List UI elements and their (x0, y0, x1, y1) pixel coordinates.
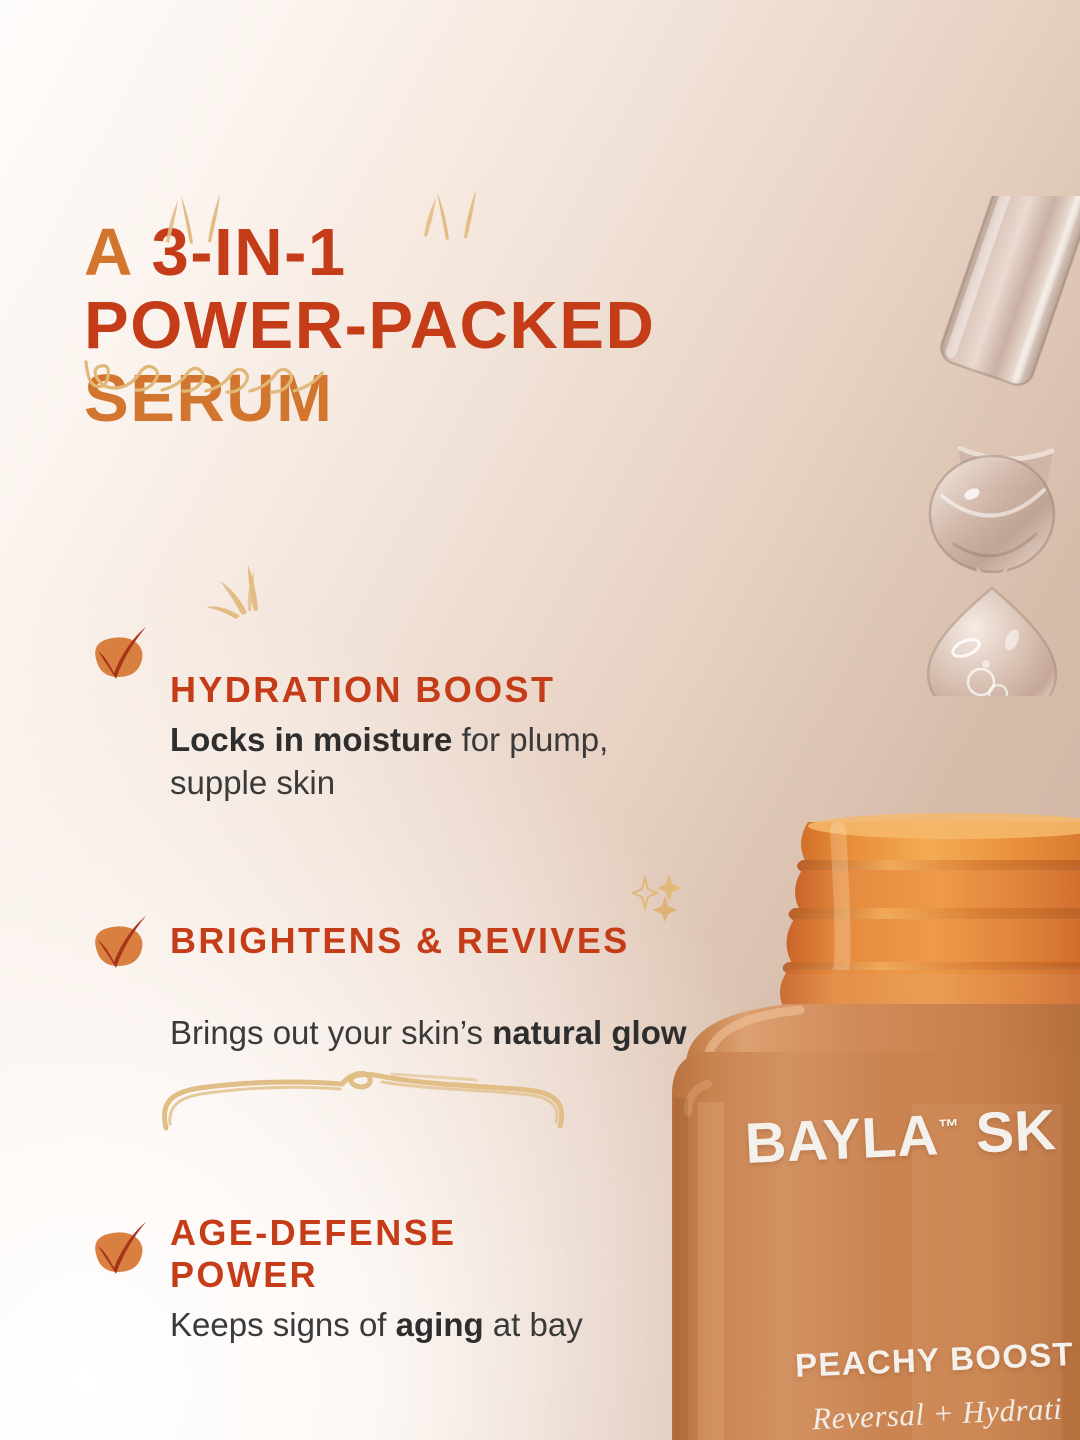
ray-burst-icon (202, 559, 288, 621)
benefit-body-tail: at bay (484, 1306, 583, 1343)
serum-dropper-image (880, 196, 1080, 696)
sparkles-icon (632, 872, 684, 922)
benefit-item-brightens: BRIGHTENS & REVIVES Brings out your skin… (84, 878, 784, 1054)
benefit-body-bold: Locks in moisture (170, 721, 452, 758)
promo-banner: BAYLA™ SK PEACHY BOOST Reversal + Hydrat… (0, 0, 1080, 1440)
benefit-item-hydration: HYDRATION BOOST Locks in moisture for pl… (84, 585, 784, 804)
benefit-item-age-defense: AGE-DEFENSE POWER Keeps signs of aging a… (84, 1128, 784, 1346)
page-title: A 3-IN-1 POWER-PACKED SERUM (84, 216, 824, 435)
benefit-body-bold: aging (396, 1306, 484, 1343)
swoosh-underline-icon (156, 1066, 576, 1134)
headline-line-3: SERUM (84, 362, 824, 435)
benefit-body-brightens: Brings out your skin’s natural glow (170, 1011, 710, 1054)
benefit-body-hydration: Locks in moisture for plump, supple skin (170, 718, 710, 804)
benefit-title-age-defense: AGE-DEFENSE POWER (170, 1128, 456, 1296)
headline-article: A (84, 215, 152, 290)
check-brush-icon (88, 621, 150, 683)
benefit-title-brightens: BRIGHTENS & REVIVES (170, 878, 630, 1004)
benefit-body-age-defense: Keeps signs of aging at bay (170, 1303, 710, 1346)
benefit-body-rest: Brings out your skin’s (170, 1014, 492, 1051)
benefit-body-rest: Keeps signs of (170, 1306, 396, 1343)
check-brush-icon (88, 910, 150, 972)
benefit-title-text: AGE-DEFENSE POWER (170, 1212, 456, 1295)
headline-3in1: 3-IN-1 (152, 215, 347, 290)
benefit-title-hydration: HYDRATION BOOST (170, 585, 555, 711)
headline-line-2: POWER-PACKED (84, 289, 824, 362)
benefit-body-bold: natural glow (492, 1014, 686, 1051)
check-brush-icon (88, 1216, 150, 1278)
headline-line-1: A 3-IN-1 (84, 216, 824, 289)
benefit-title-text: HYDRATION BOOST (170, 669, 555, 710)
benefit-list: HYDRATION BOOST Locks in moisture for pl… (84, 585, 784, 1346)
benefit-title-text: BRIGHTENS & REVIVES (170, 920, 630, 961)
